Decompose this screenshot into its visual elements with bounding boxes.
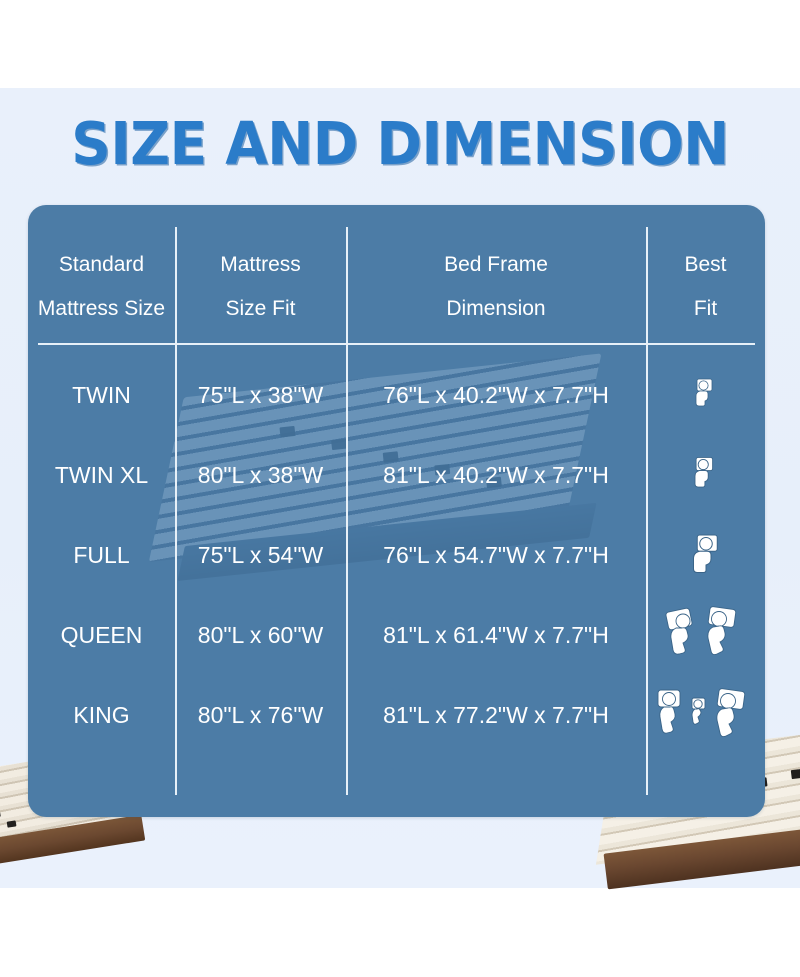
table-row: TWIN XL 80"L x 38"W 81"L x 40.2"W x 7.7"…: [28, 452, 765, 498]
cell-mattress-fit: 75"L x 38"W: [175, 372, 346, 418]
cell-mattress-fit: 80"L x 60"W: [175, 612, 346, 658]
cell-frame-dimension: 81"L x 77.2"W x 7.7"H: [346, 692, 646, 738]
header-standard-mattress-size: Standard Mattress Size: [28, 243, 175, 331]
cell-frame-dimension: 76"L x 54.7"W x 7.7"H: [346, 532, 646, 578]
cell-mattress-fit: 75"L x 54"W: [175, 532, 346, 578]
two-adult-sleepers-icon: [646, 612, 765, 658]
table-row: QUEEN 80"L x 60"W 81"L x 61.4"W x 7.7"H: [28, 612, 765, 658]
dimension-table: Standard Mattress Size Mattress Size Fit…: [28, 205, 765, 817]
cell-best-fit: [646, 532, 765, 578]
cell-best-fit: [646, 612, 765, 658]
one-adult-sleeper-icon: [646, 532, 765, 578]
cell-size: TWIN: [28, 372, 175, 418]
size-and-dimension-infographic: SIZE AND DIMENSION Standard Mattress Siz…: [0, 0, 800, 977]
two-adults-and-child-sleepers-icon: [646, 692, 765, 738]
table-row: FULL 75"L x 54"W 76"L x 54.7"W x 7.7"H: [28, 532, 765, 578]
cell-best-fit: [646, 692, 765, 738]
cell-frame-dimension: 76"L x 40.2"W x 7.7"H: [346, 372, 646, 418]
header-divider: [38, 343, 755, 345]
header-best-fit: Best Fit: [646, 243, 765, 331]
one-adult-sleeper-icon: [646, 372, 765, 418]
cell-frame-dimension: 81"L x 40.2"W x 7.7"H: [346, 452, 646, 498]
slat-clip: [791, 769, 800, 780]
dimension-table-panel: Standard Mattress Size Mattress Size Fit…: [28, 205, 765, 817]
cell-mattress-fit: 80"L x 76"W: [175, 692, 346, 738]
cell-size: QUEEN: [28, 612, 175, 658]
cell-size: FULL: [28, 532, 175, 578]
cell-size: KING: [28, 692, 175, 738]
page-title: SIZE AND DIMENSION: [28, 112, 772, 176]
header-mattress-size-fit: Mattress Size Fit: [175, 243, 346, 331]
cell-size: TWIN XL: [28, 452, 175, 498]
cell-best-fit: [646, 372, 765, 418]
cell-mattress-fit: 80"L x 38"W: [175, 452, 346, 498]
one-adult-sleeper-icon: [646, 452, 765, 498]
cell-frame-dimension: 81"L x 61.4"W x 7.7"H: [346, 612, 646, 658]
table-row: KING 80"L x 76"W 81"L x 77.2"W x 7.7"H: [28, 692, 765, 738]
cell-best-fit: [646, 452, 765, 498]
table-row: TWIN 75"L x 38"W 76"L x 40.2"W x 7.7"H: [28, 372, 765, 418]
table-header-row: Standard Mattress Size Mattress Size Fit…: [28, 237, 765, 337]
header-bed-frame-dimension: Bed Frame Dimension: [346, 243, 646, 331]
